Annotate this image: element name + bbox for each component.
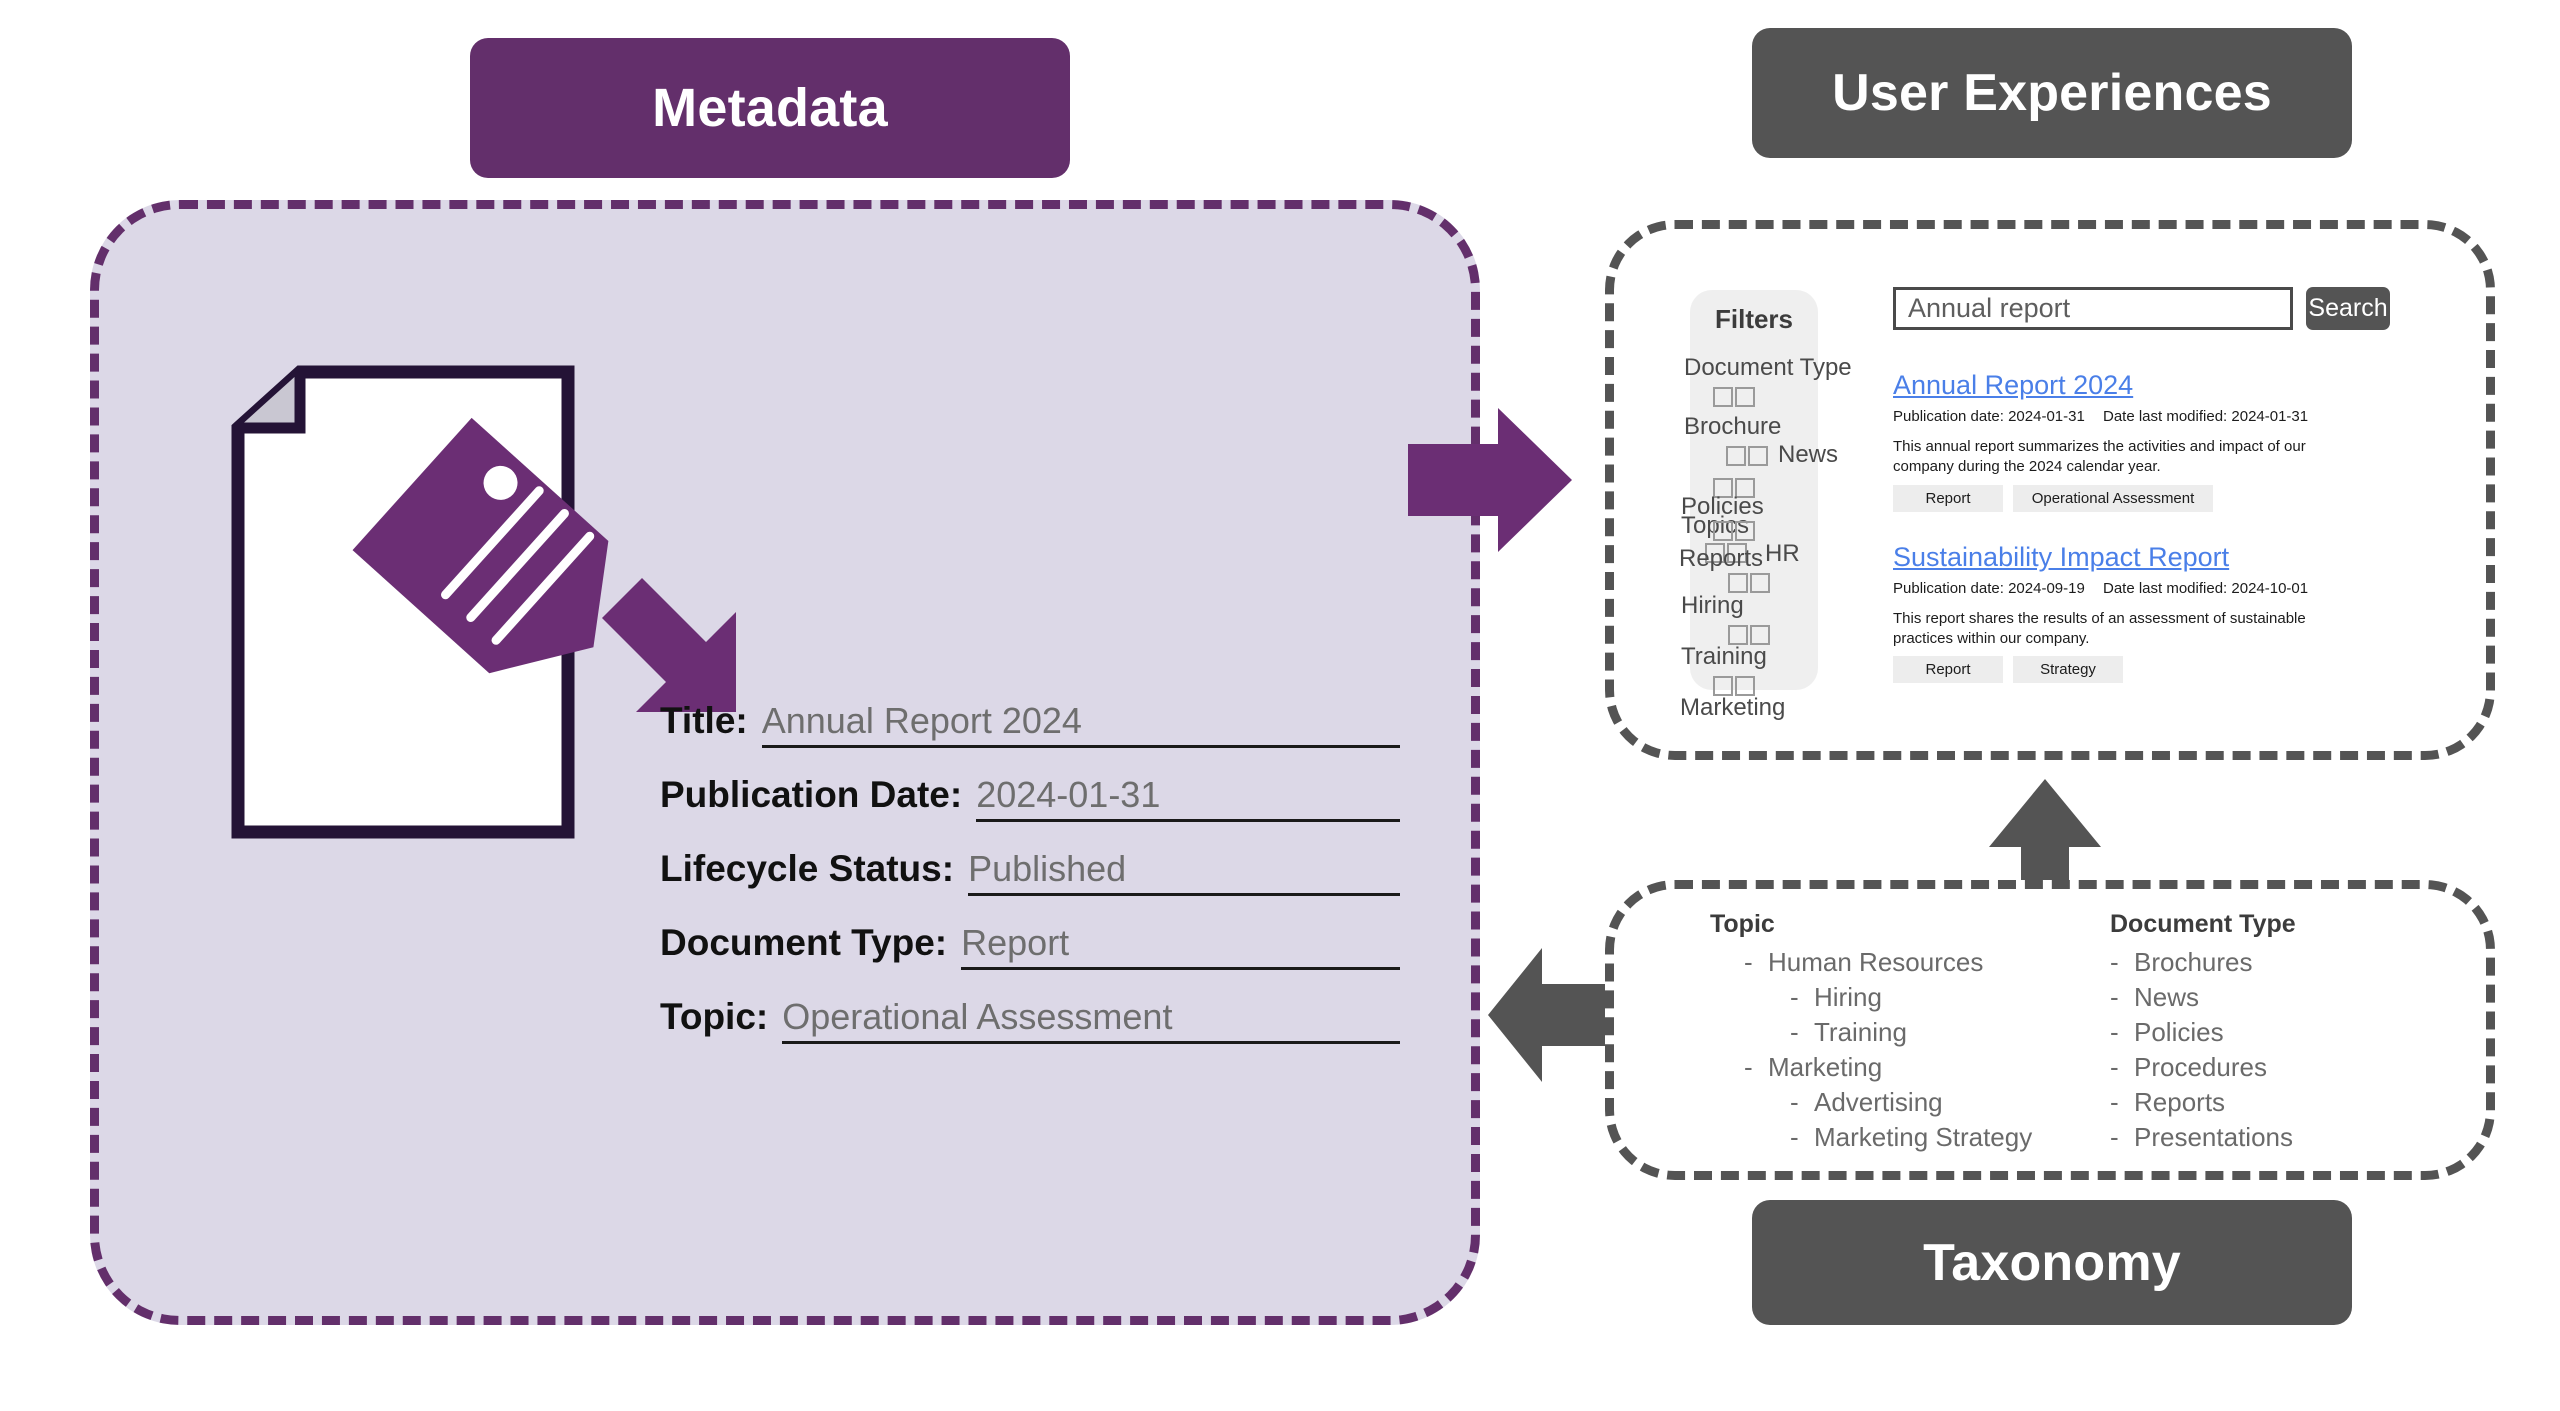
taxonomy-item: -Policies <box>2100 1015 2296 1050</box>
filters-title: Filters <box>1690 304 1818 335</box>
search-input[interactable]: Annual report <box>1893 287 2293 330</box>
metadata-field-document-type-label: Document Type: <box>660 922 947 964</box>
arrow-down-right-icon <box>602 578 736 712</box>
taxonomy-item: -Advertising <box>1700 1085 2100 1120</box>
filter-label-reports[interactable]: Reports <box>1679 545 1763 573</box>
banner-metadata-label: Metadata <box>652 77 888 139</box>
filter-checkbox[interactable] <box>1713 387 1733 407</box>
search-result-item: Sustainability Impact Report Publication… <box>1893 542 2363 684</box>
filter-label-news[interactable]: News <box>1778 441 1838 469</box>
taxonomy-item: -Training <box>1700 1015 2100 1050</box>
taxonomy-item-label: Reports <box>2134 1087 2225 1117</box>
taxonomy-content: Topic -Human Resources -Hiring -Training… <box>1700 910 2440 1156</box>
banner-taxonomy-label: Taxonomy <box>1923 1233 2181 1293</box>
filter-checkbox[interactable] <box>1713 676 1733 696</box>
metadata-field-document-type-value: Report <box>961 922 1400 964</box>
search-button[interactable]: Search <box>2306 287 2390 330</box>
metadata-field-document-type: Document Type: Report <box>660 922 1400 970</box>
taxonomy-item: -Brochures <box>2100 945 2296 980</box>
taxonomy-item: -Human Resources <box>1700 945 2100 980</box>
filter-label-training[interactable]: Training <box>1681 643 1767 671</box>
filter-checkbox-group-2[interactable] <box>1726 446 1768 466</box>
search-result-description: This report shares the results of an ass… <box>1893 609 2313 650</box>
filter-label-brochure[interactable]: Brochure <box>1684 413 1781 441</box>
filter-checkbox-group-6[interactable] <box>1728 573 1770 593</box>
taxonomy-item: -News <box>2100 980 2296 1015</box>
search-input-value: Annual report <box>1908 293 2070 324</box>
search-result-publication-date: Publication date: 2024-01-31 <box>1893 408 2085 425</box>
diagram-canvas: Metadata User Experiences Taxonomy <box>0 0 2560 1411</box>
metadata-field-publication-date-label: Publication Date: <box>660 774 962 816</box>
search-result-tag-list: Report Operational Assessment <box>1893 485 2363 512</box>
arrow-right-metadata-to-ux-icon <box>1400 400 1580 560</box>
search-result-tag[interactable]: Report <box>1893 656 2003 683</box>
taxonomy-item-label: Hiring <box>1814 982 1882 1012</box>
metadata-field-title-value-underline: Annual Report 2024 <box>762 700 1400 748</box>
filter-checkbox[interactable] <box>1728 625 1748 645</box>
metadata-field-lifecycle-status-value: Published <box>968 848 1400 890</box>
filter-checkbox[interactable] <box>1713 521 1733 541</box>
metadata-field-topic-value: Operational Assessment <box>782 996 1400 1038</box>
taxonomy-item-label: News <box>2134 982 2199 1012</box>
filter-label-document-type[interactable]: Document Type <box>1684 354 1852 382</box>
filter-checkbox[interactable] <box>1726 446 1746 466</box>
filter-label-hiring[interactable]: Hiring <box>1681 592 1744 620</box>
search-result-modified-date: Date last modified: 2024-10-01 <box>2103 580 2308 597</box>
banner-user-experiences: User Experiences <box>1752 28 2352 158</box>
search-result-dates: Publication date: 2024-01-31 Date last m… <box>1893 408 2363 425</box>
filter-checkbox-group-1[interactable] <box>1713 387 1755 407</box>
search-result-title-link[interactable]: Sustainability Impact Report <box>1893 542 2229 573</box>
metadata-field-publication-date: Publication Date: 2024-01-31 <box>660 774 1400 822</box>
filter-label-marketing[interactable]: Marketing <box>1680 694 1785 722</box>
metadata-field-title-label: Title: <box>660 700 748 742</box>
filter-checkbox[interactable] <box>1750 573 1770 593</box>
taxonomy-item-label: Policies <box>2134 1017 2224 1047</box>
filter-checkbox[interactable] <box>1750 625 1770 645</box>
taxonomy-item: -Presentations <box>2100 1120 2296 1155</box>
taxonomy-item-label: Marketing <box>1768 1052 1882 1082</box>
banner-user-experiences-label: User Experiences <box>1832 63 2272 123</box>
taxonomy-item: -Reports <box>2100 1085 2296 1120</box>
taxonomy-column-document-type: Document Type -Brochures -News -Policies… <box>2100 910 2296 1156</box>
taxonomy-item-label: Marketing Strategy <box>1814 1122 2032 1152</box>
taxonomy-item: -Procedures <box>2100 1050 2296 1085</box>
metadata-field-list: Title: Annual Report 2024 Publication Da… <box>660 700 1400 1070</box>
filter-checkbox[interactable] <box>1735 387 1755 407</box>
banner-metadata: Metadata <box>470 38 1070 178</box>
taxonomy-item: -Hiring <box>1700 980 2100 1015</box>
filter-checkbox-group-8[interactable] <box>1713 676 1755 696</box>
taxonomy-item-label: Human Resources <box>1768 947 1983 977</box>
taxonomy-heading-document-type: Document Type <box>2110 910 2296 939</box>
search-result-tag[interactable]: Report <box>1893 485 2003 512</box>
filter-checkbox[interactable] <box>1735 521 1755 541</box>
metadata-field-lifecycle-status-label: Lifecycle Status: <box>660 848 954 890</box>
taxonomy-item-label: Presentations <box>2134 1122 2293 1152</box>
metadata-field-topic-label: Topic: <box>660 996 768 1038</box>
search-result-item: Annual Report 2024 Publication date: 202… <box>1893 370 2363 512</box>
metadata-field-topic-value-underline: Operational Assessment <box>782 996 1400 1044</box>
search-result-modified-date: Date last modified: 2024-01-31 <box>2103 408 2308 425</box>
taxonomy-item: -Marketing <box>1700 1050 2100 1085</box>
search-result-tag[interactable]: Operational Assessment <box>2013 485 2213 512</box>
taxonomy-item: -Marketing Strategy <box>1700 1120 2100 1155</box>
search-results-list: Annual Report 2024 Publication date: 202… <box>1893 370 2363 713</box>
search-result-description: This annual report summarizes the activi… <box>1893 437 2313 478</box>
search-result-tag-list: Report Strategy <box>1893 656 2363 683</box>
search-result-tag[interactable]: Strategy <box>2013 656 2123 683</box>
metadata-field-title: Title: Annual Report 2024 <box>660 700 1400 748</box>
search-result-publication-date: Publication date: 2024-09-19 <box>1893 580 2085 597</box>
taxonomy-item-label: Brochures <box>2134 947 2253 977</box>
metadata-field-document-type-value-underline: Report <box>961 922 1400 970</box>
taxonomy-column-topic: Topic -Human Resources -Hiring -Training… <box>1700 910 2100 1156</box>
taxonomy-item-label: Advertising <box>1814 1087 1943 1117</box>
search-result-title-link[interactable]: Annual Report 2024 <box>1893 370 2133 401</box>
taxonomy-item-label: Procedures <box>2134 1052 2267 1082</box>
taxonomy-heading-topic: Topic <box>1710 910 2100 939</box>
metadata-field-publication-date-value: 2024-01-31 <box>976 774 1400 816</box>
search-button-label: Search <box>2308 294 2387 323</box>
metadata-field-lifecycle-status: Lifecycle Status: Published <box>660 848 1400 896</box>
search-result-dates: Publication date: 2024-09-19 Date last m… <box>1893 580 2363 597</box>
banner-taxonomy: Taxonomy <box>1752 1200 2352 1325</box>
taxonomy-item-label: Training <box>1814 1017 1907 1047</box>
filter-checkbox[interactable] <box>1735 676 1755 696</box>
filter-checkbox[interactable] <box>1728 573 1748 593</box>
metadata-field-publication-date-value-underline: 2024-01-31 <box>976 774 1400 822</box>
filter-checkbox-group-4[interactable] <box>1713 521 1755 541</box>
filter-label-hr[interactable]: HR <box>1765 540 1800 568</box>
metadata-field-lifecycle-status-value-underline: Published <box>968 848 1400 896</box>
filter-checkbox[interactable] <box>1748 446 1768 466</box>
filter-checkbox-group-7[interactable] <box>1728 625 1770 645</box>
metadata-field-title-value: Annual Report 2024 <box>762 700 1400 742</box>
metadata-field-topic: Topic: Operational Assessment <box>660 996 1400 1044</box>
